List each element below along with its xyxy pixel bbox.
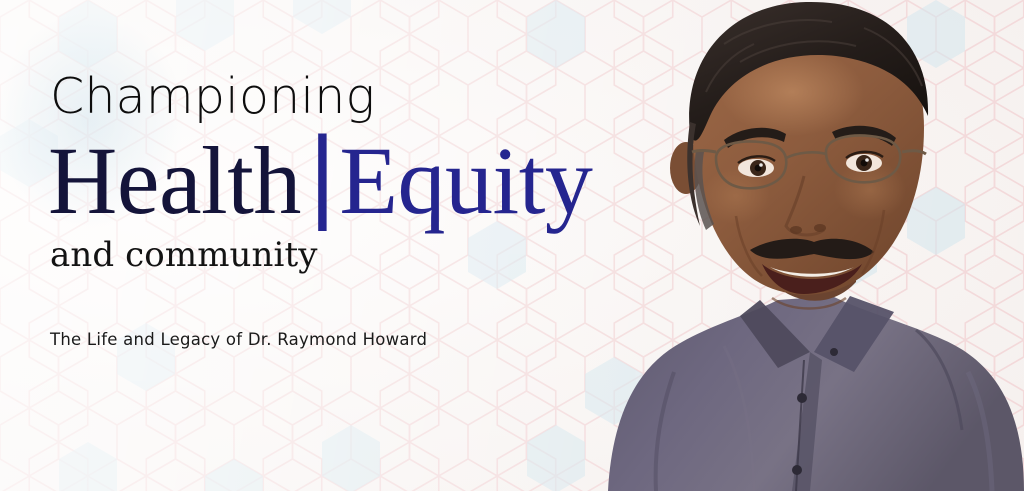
headline-tagline: and community (50, 237, 650, 274)
headline-word-health: Health (48, 127, 301, 234)
headline-separator: | (301, 116, 340, 232)
headline-main: Health|Equity (48, 125, 650, 231)
headline-block: Championing Health|Equity and community … (50, 72, 650, 349)
headline-eyebrow: Championing (50, 72, 650, 121)
hero-banner: Championing Health|Equity and community … (0, 0, 1024, 491)
banner-subtitle: The Life and Legacy of Dr. Raymond Howar… (50, 330, 650, 349)
headline-word-equity: Equity (339, 127, 592, 234)
